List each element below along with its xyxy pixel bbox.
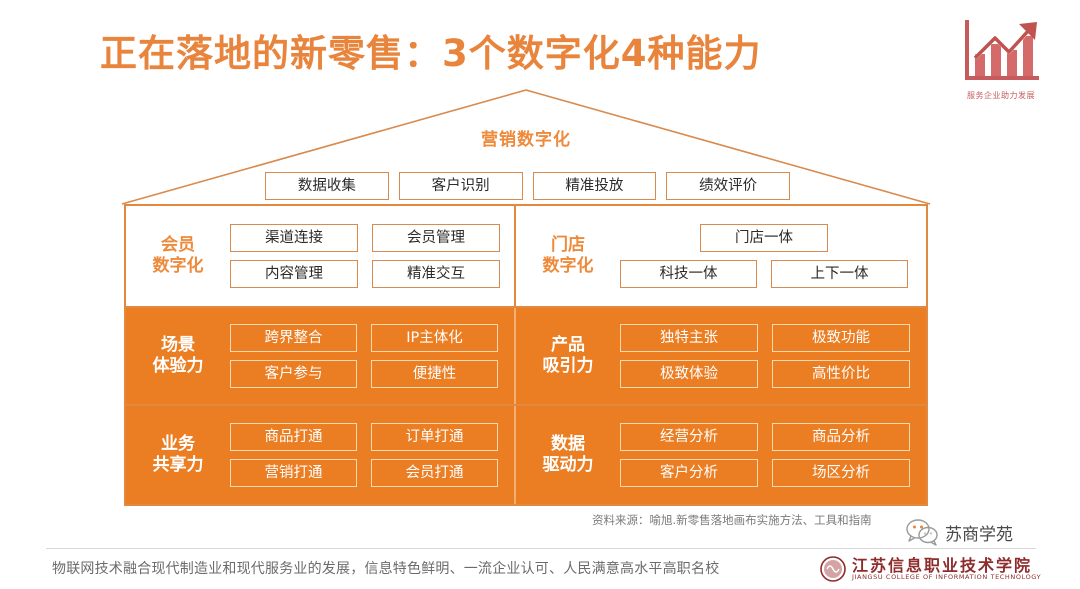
scene-box[interactable]: 跨界整合 <box>230 324 357 352</box>
section-title-member: 会员 数字化 <box>126 235 230 278</box>
member-box[interactable]: 渠道连接 <box>230 224 358 252</box>
data-box-group: 经营分析 商品分析 客户分析 场区分析 <box>620 423 926 487</box>
data-box[interactable]: 商品分析 <box>772 423 910 451</box>
section-title-line: 业务 <box>126 434 230 455</box>
scene-box-group: 跨界整合 IP主体化 客户参与 便捷性 <box>230 324 514 388</box>
section-title-line: 场景 <box>126 335 230 356</box>
house-diagram: 营销数字化 数据收集 客户识别 精准投放 绩效评价 会员 数字化 渠道连接 <box>120 88 932 510</box>
data-box[interactable]: 客户分析 <box>620 459 758 487</box>
member-box[interactable]: 内容管理 <box>230 260 358 288</box>
school-logo: 江苏信息职业技术学院 JIANGSU COLLEGE OF INFORMATIO… <box>820 556 1041 582</box>
product-box-group: 独特主张 极致功能 极致体验 高性价比 <box>620 324 926 388</box>
section-title-data: 数据 驱动力 <box>516 434 620 477</box>
house-roof: 营销数字化 数据收集 客户识别 精准投放 绩效评价 <box>120 88 932 206</box>
roof-box[interactable]: 数据收集 <box>265 172 389 200</box>
section-title-line: 共享力 <box>126 455 230 476</box>
section-business-sharing: 业务 共享力 商品打通 订单打通 营销打通 会员打通 <box>126 406 514 504</box>
store-box[interactable]: 门店一体 <box>700 224 828 252</box>
source-note: 资料来源：喻旭.新零售落地画布实施方法、工具和指南 <box>592 512 872 528</box>
wechat-badge: 苏商学苑 <box>905 518 1013 546</box>
school-name-en: JIANGSU COLLEGE OF INFORMATION TECHNOLOG… <box>852 574 1041 581</box>
section-title-line: 会员 <box>126 235 230 256</box>
footer-slogan: 物联网技术融合现代制造业和现代服务业的发展，信息特色鲜明、一流企业认可、人民满意… <box>52 558 719 578</box>
roof-box[interactable]: 精准投放 <box>533 172 657 200</box>
product-box[interactable]: 高性价比 <box>772 360 910 388</box>
member-box[interactable]: 精准交互 <box>372 260 500 288</box>
store-box[interactable]: 科技一体 <box>620 260 757 288</box>
section-product-attraction: 产品 吸引力 独特主张 极致功能 极致体验 高性价比 <box>514 308 926 404</box>
section-title-line: 体验力 <box>126 356 230 377</box>
business-box[interactable]: 会员打通 <box>371 459 498 487</box>
scene-box[interactable]: 便捷性 <box>371 360 498 388</box>
bar-chart-growth-arrow-icon <box>955 14 1047 90</box>
section-member-digitalization: 会员 数字化 渠道连接 会员管理 内容管理 精准交互 <box>126 206 514 306</box>
data-box[interactable]: 经营分析 <box>620 423 758 451</box>
product-box[interactable]: 极致功能 <box>772 324 910 352</box>
house-row-member-store: 会员 数字化 渠道连接 会员管理 内容管理 精准交互 门店 数字化 <box>126 206 926 306</box>
section-title-line: 数据 <box>516 434 620 455</box>
section-store-digitalization: 门店 数字化 门店一体 科技一体 上下一体 <box>514 206 926 306</box>
store-box[interactable]: 上下一体 <box>771 260 908 288</box>
section-title-line: 数字化 <box>516 256 620 277</box>
business-box-group: 商品打通 订单打通 营销打通 会员打通 <box>230 423 514 487</box>
section-title-line: 驱动力 <box>516 455 620 476</box>
section-data-driving: 数据 驱动力 经营分析 商品分析 客户分析 场区分析 <box>514 406 926 504</box>
roof-box[interactable]: 客户识别 <box>399 172 523 200</box>
section-title-line: 门店 <box>516 235 620 256</box>
store-box-group: 门店一体 科技一体 上下一体 <box>620 224 926 288</box>
school-name-cn: 江苏信息职业技术学院 <box>852 557 1041 575</box>
section-title-business: 业务 共享力 <box>126 434 230 477</box>
section-title-store: 门店 数字化 <box>516 235 620 278</box>
member-box-group: 渠道连接 会员管理 内容管理 精准交互 <box>230 224 514 288</box>
section-title-line: 数字化 <box>126 256 230 277</box>
store-box-row-top: 门店一体 <box>620 224 908 252</box>
house-body: 会员 数字化 渠道连接 会员管理 内容管理 精准交互 门店 数字化 <box>124 204 928 506</box>
scene-box[interactable]: 客户参与 <box>230 360 357 388</box>
house-row-business-data: 业务 共享力 商品打通 订单打通 营销打通 会员打通 数据 驱动力 <box>126 406 926 504</box>
section-title-scene: 场景 体验力 <box>126 335 230 378</box>
footer-divider <box>46 548 1036 549</box>
section-title-line: 产品 <box>516 335 620 356</box>
brand-logo: 服务企业助力发展 <box>955 14 1047 102</box>
page-title: 正在落地的新零售：3个数字化4种能力 <box>100 23 762 77</box>
roof-box-group: 数据收集 客户识别 精准投放 绩效评价 <box>265 172 790 200</box>
brand-logo-caption: 服务企业助力发展 <box>955 90 1047 101</box>
roof-title: 营销数字化 <box>120 125 932 150</box>
section-title-product: 产品 吸引力 <box>516 335 620 378</box>
section-scene-experience: 场景 体验力 跨界整合 IP主体化 客户参与 便捷性 <box>126 308 514 404</box>
roof-box[interactable]: 绩效评价 <box>666 172 790 200</box>
slide-canvas: 正在落地的新零售：3个数字化4种能力 服务企业助力发展 营销数字化 数据收集 客… <box>0 0 1080 589</box>
data-box[interactable]: 场区分析 <box>772 459 910 487</box>
product-box[interactable]: 独特主张 <box>620 324 758 352</box>
section-title-line: 吸引力 <box>516 356 620 377</box>
store-box-row-bottom: 科技一体 上下一体 <box>620 260 908 288</box>
product-box[interactable]: 极致体验 <box>620 360 758 388</box>
member-box[interactable]: 会员管理 <box>372 224 500 252</box>
business-box[interactable]: 商品打通 <box>230 423 357 451</box>
wechat-icon <box>905 518 939 546</box>
business-box[interactable]: 订单打通 <box>371 423 498 451</box>
wechat-label: 苏商学苑 <box>945 520 1013 545</box>
house-row-scene-product: 场景 体验力 跨界整合 IP主体化 客户参与 便捷性 产品 吸引力 <box>126 306 926 406</box>
school-name-block: 江苏信息职业技术学院 JIANGSU COLLEGE OF INFORMATIO… <box>852 557 1041 582</box>
business-box[interactable]: 营销打通 <box>230 459 357 487</box>
school-seal-icon <box>820 556 846 582</box>
scene-box[interactable]: IP主体化 <box>371 324 498 352</box>
